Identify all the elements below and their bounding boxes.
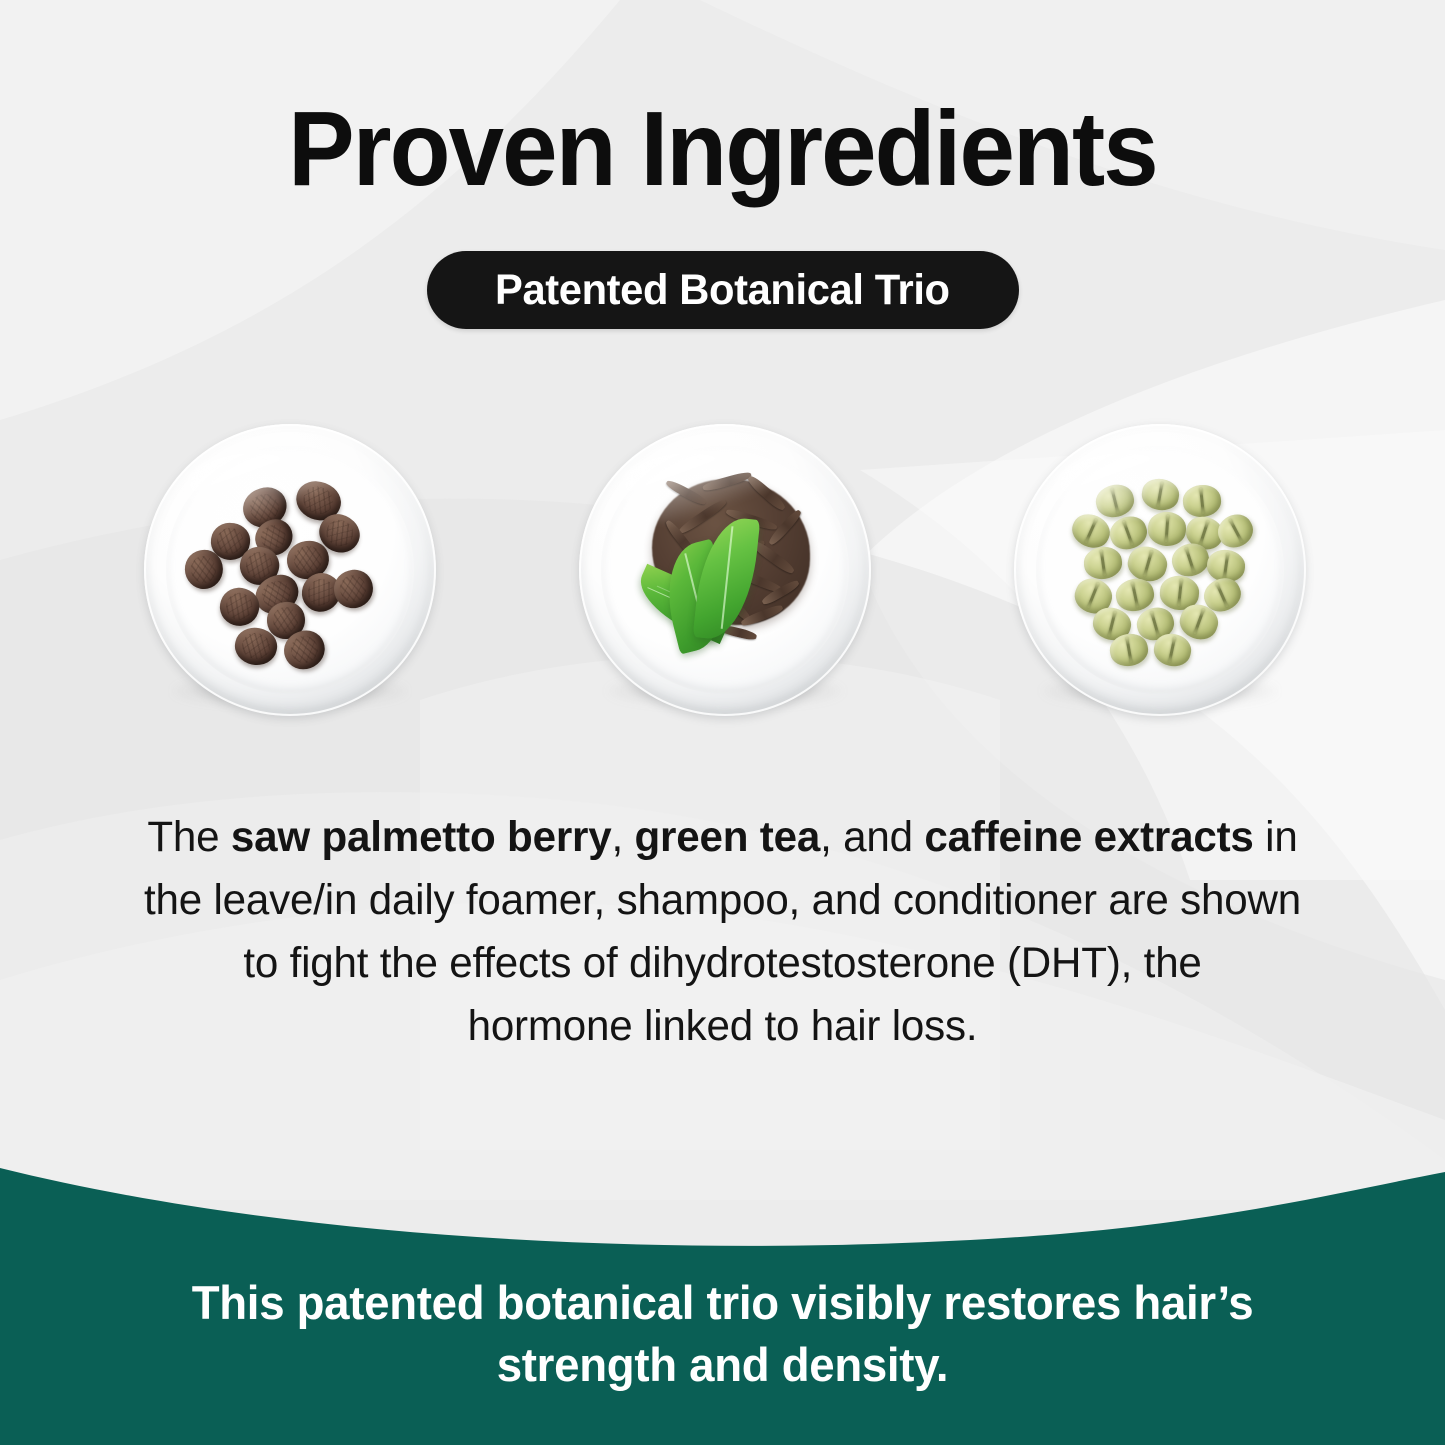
description-line-4: hormone linked to hair loss. (91, 995, 1354, 1058)
ingredient-emphasis-caffeine: caffeine extracts (924, 813, 1253, 861)
desc-text: , and (820, 813, 924, 861)
dish-rim (579, 424, 871, 716)
footer-banner: This patented botanical trio visibly res… (0, 1130, 1445, 1445)
ingredients-infographic: Proven Ingredients Patented Botanical Tr… (0, 0, 1445, 1445)
ingredient-dish-green-coffee-bean (1014, 424, 1306, 716)
patented-botanical-trio-badge: Patented Botanical Trio (427, 251, 1019, 329)
ingredients-description: The saw palmetto berry, green tea, and c… (91, 806, 1354, 1058)
dish-rim (144, 424, 436, 716)
ingredient-emphasis-saw-palmetto: saw palmetto berry (231, 813, 612, 861)
footer-line-1: This patented botanical trio visibly res… (80, 1272, 1365, 1334)
page-title: Proven Ingredients (43, 96, 1401, 202)
ingredient-emphasis-green-tea: green tea (635, 813, 821, 861)
desc-text: , (611, 813, 634, 861)
ingredient-dish-green-tea (579, 424, 871, 716)
ingredient-dish-saw-palmetto-berry (144, 424, 436, 716)
footer-message: This patented botanical trio visibly res… (80, 1272, 1365, 1396)
ingredient-dish-row (0, 424, 1445, 724)
desc-text: in (1254, 813, 1298, 861)
footer-line-2: strength and density. (80, 1334, 1365, 1396)
description-line-3: to fight the effects of dihydrotestoster… (91, 932, 1354, 995)
dish-rim (1014, 424, 1306, 716)
badge-label: Patented Botanical Trio (495, 266, 950, 315)
description-line-2: the leave/in daily foamer, shampoo, and … (91, 869, 1354, 932)
description-line-1: The saw palmetto berry, green tea, and c… (91, 806, 1354, 869)
desc-text: The (147, 813, 231, 861)
